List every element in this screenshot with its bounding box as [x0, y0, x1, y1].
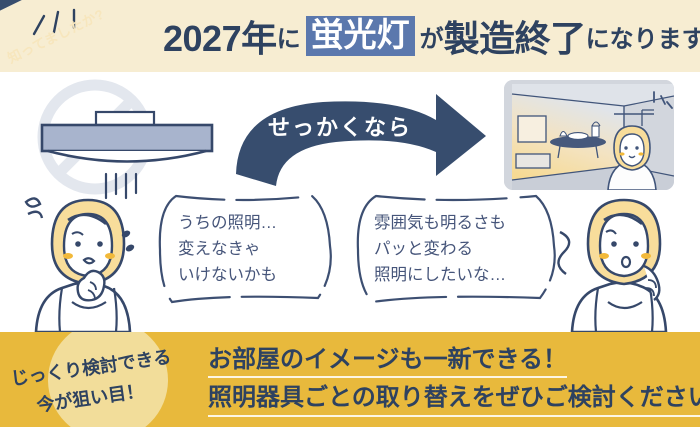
- headline-highlight-fluorescent: 蛍光灯: [306, 16, 415, 57]
- speech-bubble-right: 雰囲気も明るさも パッと変わる 照明にしたいな…: [350, 190, 565, 310]
- header-band: 知ってましたか? 2027年 に 蛍光灯 が 製造終了 になります: [0, 0, 700, 72]
- headline-year: 2027年: [163, 10, 277, 62]
- curved-arrow-icon: [228, 90, 493, 195]
- footer-right-line2: 照明器具ごとの取り替えをぜひご検討ください: [208, 384, 700, 416]
- footer-right-text: お部屋のイメージも一新できる！ 照明器具ごとの取り替えをぜひご検討ください: [208, 346, 700, 423]
- infographic-canvas: 知ってましたか? 2027年 に 蛍光灯 が 製造終了 になります: [0, 0, 700, 427]
- footer-band: じっくり検討できる 今が狙い目！ お部屋のイメージも一新できる！ 照明器具ごとの…: [0, 332, 700, 427]
- arrow-label: せっかくなら: [268, 110, 412, 142]
- headline-particle-ni: に: [277, 19, 301, 54]
- bright-room-illustration: [504, 80, 674, 190]
- thinking-woman-illustration: [556, 184, 692, 332]
- speech-bubble-right-text: 雰囲気も明るさも パッと変わる 照明にしたいな…: [374, 210, 506, 288]
- main-illustration-area: せっかくなら: [0, 72, 700, 332]
- headline-main: 製造終了: [444, 10, 586, 62]
- footer-right-line1: お部屋のイメージも一新できる！: [208, 346, 567, 378]
- worried-woman-illustration: [18, 182, 158, 332]
- headline-suffix: になります: [586, 19, 700, 54]
- page-title: 2027年 に 蛍光灯 が 製造終了 になります: [163, 8, 700, 64]
- speech-bubble-left: うちの照明… 変えなきゃ いけないかも: [152, 190, 342, 310]
- speech-bubble-left-text: うちの照明… 変えなきゃ いけないかも: [178, 210, 277, 288]
- headline-particle-ga: が: [420, 19, 444, 54]
- ceiling-light-icon: [38, 110, 216, 172]
